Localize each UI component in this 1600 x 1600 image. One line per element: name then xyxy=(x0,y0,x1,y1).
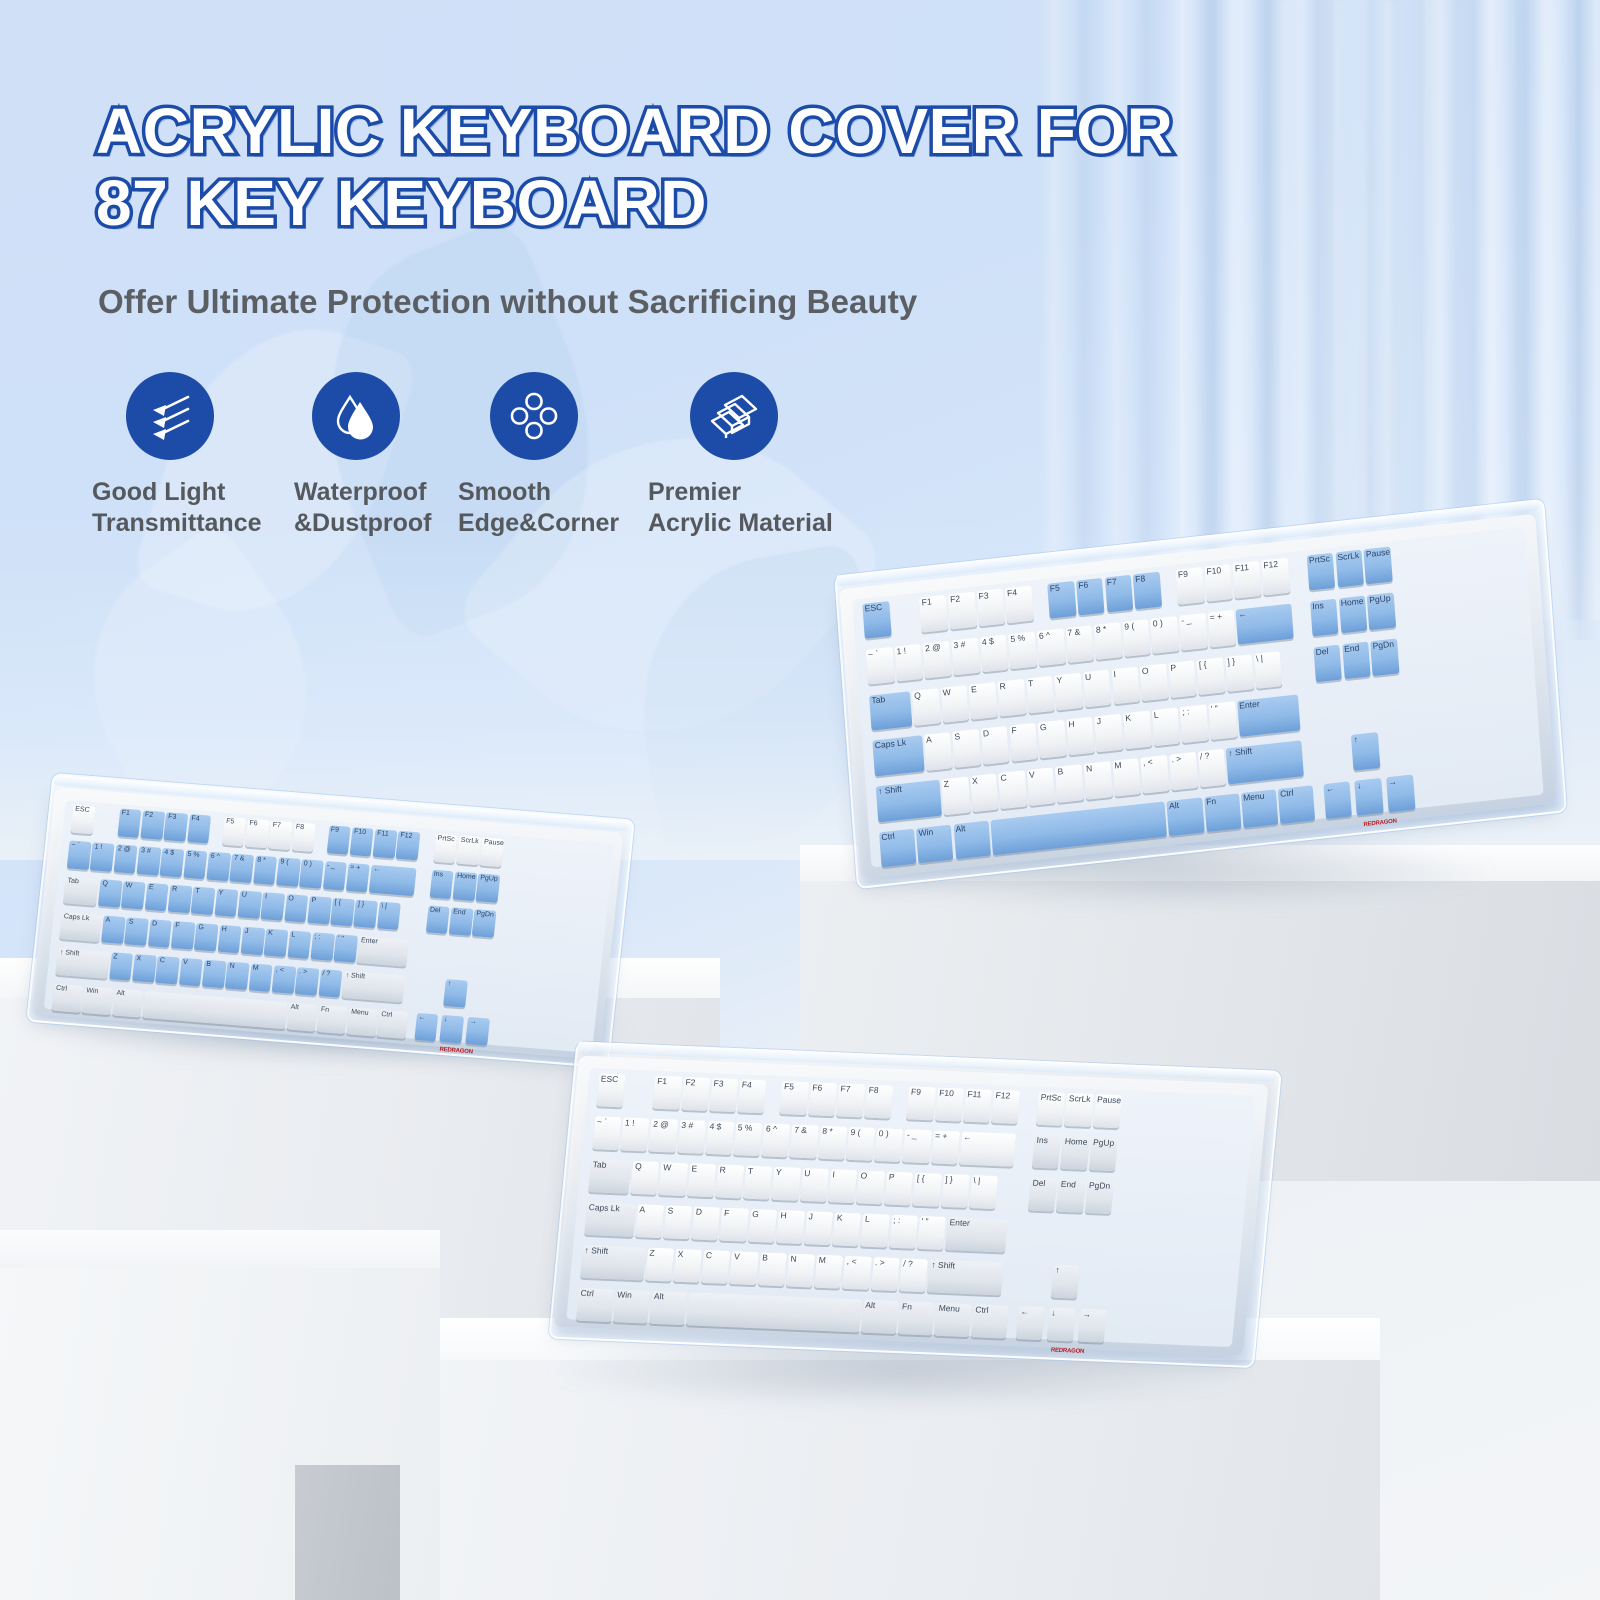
keycap: 2 @ xyxy=(113,844,138,873)
keycap: ↓ xyxy=(440,1014,465,1043)
keycap: F9 xyxy=(326,825,351,854)
keycap: PgDn xyxy=(1084,1180,1113,1214)
keycap: Alt xyxy=(861,1300,899,1334)
keycap: 0 ) xyxy=(299,859,324,888)
keycap: ~ ` xyxy=(67,840,92,869)
keycap: - _ xyxy=(902,1129,931,1163)
keycap: ↓ xyxy=(1355,778,1384,816)
keycap: ; : xyxy=(1180,705,1209,743)
keycap: PrtSc xyxy=(1307,553,1336,591)
feature-label: Premier Acrylic Material xyxy=(648,477,848,538)
keycap: 1 ! xyxy=(620,1117,649,1151)
keycap: D xyxy=(691,1207,720,1241)
keycap: F8 xyxy=(1133,572,1162,610)
keycap: Del xyxy=(1028,1178,1057,1212)
keycap: F11 xyxy=(1233,561,1262,599)
keycap: Alt xyxy=(649,1291,687,1325)
keycap: F7 xyxy=(268,821,293,850)
keycap: K xyxy=(832,1213,861,1247)
keycap: - _ xyxy=(322,861,347,890)
pedestal-small-block xyxy=(295,1465,400,1600)
keycap: B xyxy=(202,959,227,988)
keycap: F9 xyxy=(906,1086,935,1120)
keycap: → xyxy=(465,1017,490,1046)
keycap: 9 ( xyxy=(846,1127,875,1161)
keycap: ↑ Shift xyxy=(580,1245,646,1281)
keycap: S xyxy=(663,1206,692,1240)
keycap: F10 xyxy=(935,1088,964,1122)
keycap: C xyxy=(998,771,1027,809)
keycap: Ctrl xyxy=(377,1009,408,1039)
keycap: D xyxy=(981,726,1010,764)
four-petal-icon xyxy=(490,372,578,460)
keycap: B xyxy=(758,1253,787,1287)
keycap: A xyxy=(101,915,126,944)
keycap: ScrLk xyxy=(1335,550,1364,588)
keycap: - _ xyxy=(1179,613,1208,651)
keycap: ~ ` xyxy=(592,1116,621,1150)
keycap: F1 xyxy=(117,808,142,837)
keycap: V xyxy=(729,1251,758,1285)
keycap: F8 xyxy=(864,1085,893,1119)
keycap: 5 % xyxy=(733,1122,762,1156)
keycap: F5 xyxy=(222,817,247,846)
keycap: Q xyxy=(912,688,941,726)
keycap: Alt xyxy=(953,821,991,860)
keycap: ; : xyxy=(310,932,335,961)
keycap: 6 ^ xyxy=(761,1123,790,1157)
keycap: C xyxy=(701,1250,730,1284)
keycap: Fn xyxy=(316,1005,347,1035)
keycap: E xyxy=(144,883,169,912)
keycap: F2 xyxy=(140,810,165,839)
keycap: X xyxy=(132,954,157,983)
keycap: U xyxy=(800,1168,829,1202)
keycap: ← xyxy=(959,1132,1017,1167)
keycap: L xyxy=(287,930,312,959)
feature-label: Waterproof &Dustproof xyxy=(294,477,444,538)
keycap: F4 xyxy=(1005,586,1034,624)
keycap: Ctrl xyxy=(576,1288,614,1322)
keycap: Menu xyxy=(347,1007,378,1037)
keycap: 4 $ xyxy=(980,634,1009,672)
feature-smooth-edge-corner: Smooth Edge&Corner xyxy=(458,372,623,538)
keycap: Win xyxy=(916,825,954,864)
keycap: O xyxy=(856,1170,885,1204)
keycap: A xyxy=(635,1204,664,1238)
keycap: F1 xyxy=(919,595,948,633)
keycap: Enter xyxy=(1237,695,1300,737)
keycap: Win xyxy=(82,986,113,1016)
keycap: F4 xyxy=(187,814,212,843)
keycap: Menu xyxy=(1241,789,1279,828)
keycap: H xyxy=(1066,717,1095,755)
keycap: / ? xyxy=(1198,749,1227,787)
keycap: [ { xyxy=(330,898,355,927)
keycap: T xyxy=(191,886,216,915)
keycap: V xyxy=(179,957,204,986)
keycap: K xyxy=(1123,711,1152,749)
keycap: J xyxy=(1095,714,1124,752)
keycap: ↑ Shift xyxy=(341,971,405,1003)
keycap: F9 xyxy=(1176,567,1205,605)
keycap: . > xyxy=(870,1257,899,1291)
keycap: End xyxy=(1056,1179,1085,1213)
keycap: Menu xyxy=(934,1303,972,1337)
keycap: 2 @ xyxy=(649,1119,678,1153)
keycap: \ | xyxy=(1253,651,1282,689)
keycap: 4 $ xyxy=(705,1121,734,1155)
keycap: Home xyxy=(1060,1136,1089,1170)
keycap: X xyxy=(970,774,999,812)
keycap: F7 xyxy=(1104,575,1133,613)
keycap: G xyxy=(748,1209,777,1243)
keycap: → xyxy=(1078,1309,1107,1343)
keycap: ESC xyxy=(862,601,891,639)
keycap: F6 xyxy=(808,1082,837,1116)
keycap: Ctrl xyxy=(879,829,917,868)
light-rays-icon xyxy=(126,372,214,460)
keycap: P xyxy=(1168,660,1197,698)
keycap: Ctrl xyxy=(1278,785,1316,824)
keycap: U xyxy=(1083,669,1112,707)
keycap: F6 xyxy=(245,819,270,848)
keycap: ScrLk xyxy=(456,836,481,865)
keycap: = + xyxy=(931,1130,960,1164)
keycap: N xyxy=(1084,761,1113,799)
keycap: 8 * xyxy=(818,1126,847,1160)
keycap: F12 xyxy=(991,1090,1020,1124)
keycap: Z xyxy=(645,1248,674,1282)
keycap: [ { xyxy=(1197,657,1226,695)
keycap: 9 ( xyxy=(276,857,301,886)
keycap: 8 * xyxy=(1093,622,1122,660)
acrylic-sheets-icon xyxy=(690,372,778,460)
keycap: F10 xyxy=(1204,564,1233,602)
keycap: E xyxy=(687,1163,716,1197)
keycap: 0 ) xyxy=(1150,616,1179,654)
keycap: = + xyxy=(1207,610,1236,648)
keycap: 3 # xyxy=(677,1120,706,1154)
keycap: End xyxy=(449,907,474,936)
keycap: Del xyxy=(1313,644,1342,682)
keycap: Tab xyxy=(588,1159,631,1194)
keycap: F6 xyxy=(1076,578,1105,616)
keycap: 6 ^ xyxy=(206,852,231,881)
keycap: F5 xyxy=(1047,581,1076,619)
keycap: ← xyxy=(1016,1307,1045,1341)
keycap: ' " xyxy=(917,1216,946,1250)
keycap: [ { xyxy=(912,1173,941,1207)
keycap: F3 xyxy=(976,589,1005,627)
keycap: Win xyxy=(613,1290,651,1324)
keycap: Ins xyxy=(429,870,454,899)
keycap: Alt xyxy=(1167,798,1205,837)
keycap: PgUp xyxy=(1088,1137,1117,1171)
keycap: 0 ) xyxy=(874,1128,903,1162)
keycap: ~ ` xyxy=(866,647,895,685)
keycap: \ | xyxy=(377,901,402,930)
keycap: S xyxy=(952,730,981,768)
keycap: N xyxy=(786,1254,815,1288)
keycap: Q xyxy=(630,1161,659,1195)
keycap: F11 xyxy=(963,1089,992,1123)
keycap: Caps Lk xyxy=(872,736,924,776)
keycap: ESC xyxy=(71,805,96,834)
keycap: Ins xyxy=(1310,599,1339,637)
keycap: 9 ( xyxy=(1122,619,1151,657)
keycap: F12 xyxy=(1261,558,1290,596)
page-subtitle: Offer Ultimate Protection without Sacrif… xyxy=(98,283,917,321)
keycap: End xyxy=(1342,641,1371,679)
keycap: W xyxy=(940,685,969,723)
keycap: L xyxy=(1151,708,1180,746)
keycap: R xyxy=(715,1165,744,1199)
keycap: N xyxy=(225,961,250,990)
feature-good-light-transmittance: Good Light Transmittance xyxy=(96,372,266,538)
keycap: → xyxy=(1386,775,1415,813)
keycap: 1 ! xyxy=(894,644,923,682)
keycap: PrtSc xyxy=(433,834,458,863)
keycap: ↑ Shift xyxy=(55,948,110,980)
keycap: T xyxy=(743,1166,772,1200)
keycap: B xyxy=(1055,764,1084,802)
keycap: ↑ xyxy=(443,979,468,1008)
keycap: ' " xyxy=(1208,702,1237,740)
keycap: O xyxy=(1140,663,1169,701)
keycap: PgUp xyxy=(1367,592,1396,630)
water-droplet-icon xyxy=(312,372,400,460)
keycap: ↑ Shift xyxy=(876,780,942,822)
keycap: 4 $ xyxy=(160,848,185,877)
keycap: M xyxy=(814,1255,843,1289)
keycap: I xyxy=(828,1169,857,1203)
keycap: I xyxy=(261,892,286,921)
keycap: U xyxy=(237,890,262,919)
keycap: 7 & xyxy=(790,1125,819,1159)
keycap: / ? xyxy=(899,1259,928,1293)
keycap: Del xyxy=(426,905,451,934)
keycap: Fn xyxy=(1204,794,1242,833)
keycap: 5 % xyxy=(1008,631,1037,669)
keycap: Ins xyxy=(1032,1135,1061,1169)
keycap: M xyxy=(248,963,273,992)
keycap: Ctrl xyxy=(52,983,83,1013)
title-line-2: 87 KEY KEYBOARD xyxy=(96,168,1396,240)
keycap: Caps Lk xyxy=(59,912,102,943)
keycap: R xyxy=(997,679,1026,717)
keycap: 6 ^ xyxy=(1037,628,1066,666)
keycap: Home xyxy=(453,871,478,900)
keycap: F3 xyxy=(164,812,189,841)
keycap: Enter xyxy=(945,1217,1008,1252)
keycap: Fn xyxy=(897,1302,935,1336)
keycap: Y xyxy=(214,888,239,917)
keycap: PgDn xyxy=(1370,638,1399,676)
keycap: ↓ xyxy=(1047,1308,1076,1342)
keycap: ' " xyxy=(333,934,358,963)
keycap: PgDn xyxy=(472,909,497,938)
keycap: F8 xyxy=(291,822,316,851)
keycap: / ? xyxy=(318,969,343,998)
keycap: F5 xyxy=(780,1081,809,1115)
keycap: ESC xyxy=(596,1073,625,1107)
keycap: 8 * xyxy=(253,855,278,884)
product-marketing-image: ESCF1F2F3F4F5F6F7F8F9F10F11F12PrtScScrLk… xyxy=(0,0,1600,1600)
keycap: J xyxy=(240,926,265,955)
keycap: H xyxy=(217,925,242,954)
feature-premier-acrylic-material: Premier Acrylic Material xyxy=(648,372,848,538)
keycap: E xyxy=(969,682,998,720)
keycap: 3 # xyxy=(137,846,162,875)
keycap: S xyxy=(124,917,149,946)
keycap: F4 xyxy=(737,1079,766,1113)
keycap: ↑ xyxy=(1351,732,1380,770)
keycap: O xyxy=(284,894,309,923)
keycap: ; : xyxy=(889,1215,918,1249)
keycap: 3 # xyxy=(951,637,980,675)
keycap: W xyxy=(121,881,146,910)
keycap: F7 xyxy=(836,1083,865,1117)
feature-label: Smooth Edge&Corner xyxy=(458,477,623,538)
keycap: X xyxy=(673,1249,702,1283)
keycap: Ctrl xyxy=(971,1305,1009,1339)
keycap: P xyxy=(884,1172,913,1206)
keycap: ScrLk xyxy=(1064,1093,1093,1127)
keycap: F2 xyxy=(681,1077,710,1111)
keycap: F10 xyxy=(350,827,375,856)
keycap: ] } xyxy=(354,900,379,929)
keycap: 7 & xyxy=(1065,625,1094,663)
feature-waterproof-dustproof: Waterproof &Dustproof xyxy=(294,372,444,538)
keycap: F2 xyxy=(948,592,977,630)
keycap: K xyxy=(264,928,289,957)
keycap: ← xyxy=(1236,603,1294,644)
keycap: P xyxy=(307,896,332,925)
keycap: , < xyxy=(272,965,297,994)
keycap: 1 ! xyxy=(90,842,115,871)
keycap: = + xyxy=(346,863,371,892)
keycap: F3 xyxy=(709,1078,738,1112)
keycap: F xyxy=(171,921,196,950)
keycap: Q xyxy=(98,879,123,908)
keycap: M xyxy=(1112,758,1141,796)
keycap: 2 @ xyxy=(923,641,952,679)
keycap: Enter xyxy=(357,936,409,967)
keycap: Pause xyxy=(480,838,505,867)
feature-label: Good Light Transmittance xyxy=(92,477,266,538)
keycap: , < xyxy=(842,1256,871,1290)
keycap: R xyxy=(168,885,193,914)
keycap: Tab xyxy=(869,691,912,731)
keycap: ↑ xyxy=(1051,1265,1080,1299)
keycap: \ | xyxy=(969,1175,998,1209)
keycap: ← xyxy=(369,865,417,896)
keycap: C xyxy=(155,956,180,985)
keycap: 5 % xyxy=(183,850,208,879)
keycap: Pause xyxy=(1093,1094,1122,1128)
keycap: Alt xyxy=(112,988,143,1018)
keycap: F xyxy=(1009,723,1038,761)
keycap: L xyxy=(860,1214,889,1248)
keycap: D xyxy=(148,919,173,948)
feature-list: Good Light Transmittance Waterproof &Dus… xyxy=(96,372,896,562)
keycap: 7 & xyxy=(230,854,255,883)
keycap: I xyxy=(1111,666,1140,704)
keycap: PrtSc xyxy=(1036,1092,1065,1126)
keycap: Z xyxy=(941,777,970,815)
keycap: Z xyxy=(109,952,134,981)
keycap: . > xyxy=(1169,752,1198,790)
keycap: G xyxy=(194,923,219,952)
keycap: Alt xyxy=(286,1002,317,1032)
keycap: , < xyxy=(1141,755,1170,793)
keycap: Pause xyxy=(1364,547,1393,585)
keycap: ] } xyxy=(941,1174,970,1208)
keycap: PgUp xyxy=(476,873,501,902)
keycap: Tab xyxy=(63,876,99,906)
keycap: F11 xyxy=(373,829,398,858)
keycap: Y xyxy=(1054,672,1083,710)
keycap: V xyxy=(1027,768,1056,806)
keycap: F1 xyxy=(653,1076,682,1110)
keycap: ↑ Shift xyxy=(927,1260,1004,1296)
keycap: Home xyxy=(1338,595,1367,633)
page-title: ACRYLIC KEYBOARD COVER FOR 87 KEY KEYBOA… xyxy=(96,96,1396,239)
keycap: G xyxy=(1038,720,1067,758)
keycap: W xyxy=(659,1162,688,1196)
keycap: ← xyxy=(414,1012,439,1041)
keycap: Caps Lk xyxy=(584,1202,636,1237)
keycap: H xyxy=(776,1210,805,1244)
keycap: F xyxy=(719,1208,748,1242)
keycap: ← xyxy=(1323,781,1352,819)
keycap: J xyxy=(804,1211,833,1245)
keycap: Y xyxy=(771,1167,800,1201)
keycap: T xyxy=(1026,675,1055,713)
keycap: A xyxy=(924,733,953,771)
keycap: ] } xyxy=(1225,654,1254,692)
title-line-1: ACRYLIC KEYBOARD COVER FOR xyxy=(96,96,1396,168)
keycap: . > xyxy=(295,967,320,996)
keycap: F12 xyxy=(396,831,421,860)
